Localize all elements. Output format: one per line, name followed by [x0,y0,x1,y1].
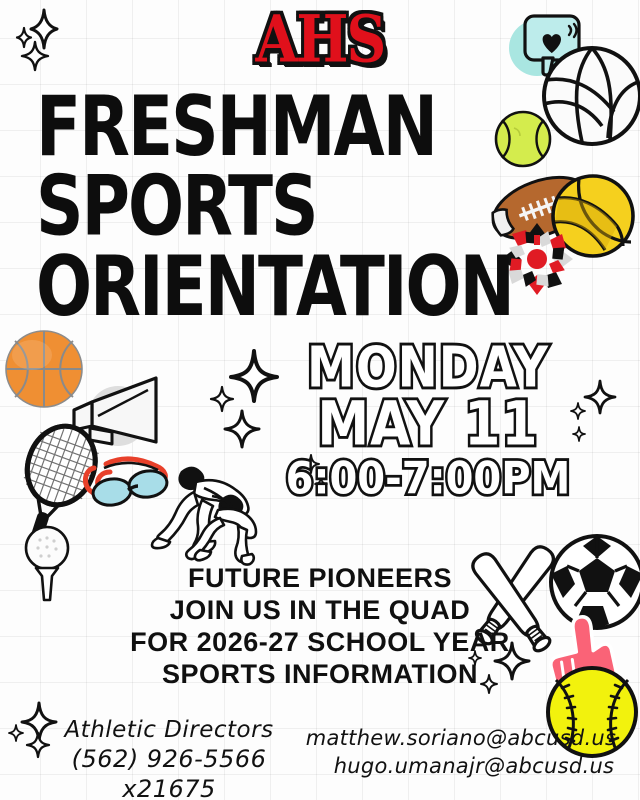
event-datetime: MONDAY MAY 11 6:00-7:00PM [278,340,578,504]
body-line-1: FUTURE PIONEERS [0,562,640,594]
email-address-2[interactable]: hugo.umanajr@abcusd.us [296,752,626,780]
event-details: FUTURE PIONEERS JOIN US IN THE QUAD FOR … [0,562,640,690]
headline-line-1: FRESHMAN [36,88,492,168]
athletic-directors-label: Athletic Directors [24,716,314,744]
body-line-2: JOIN US IN THE QUAD [0,594,640,626]
body-line-3: FOR 2026-27 SCHOOL YEAR [0,626,640,658]
footer-contact-left: Athletic Directors (562) 926-5566 x21675 [24,716,314,800]
headline-line-2: SPORTS [36,168,492,248]
sparkle-icon [6,722,26,744]
page-title: FRESHMAN SPORTS ORIENTATION [36,88,492,327]
body-line-4: SPORTS INFORMATION [0,658,640,690]
poster-canvas: #1 AHS FRESHMAN SPORTS ORIENTATION MONDA… [0,0,640,800]
headline-line-3: ORIENTATION [36,247,492,327]
tennis-ball-icon [492,108,554,170]
phone-number: (562) 926-5566 x21675 [24,744,314,800]
event-date: MAY 11 [278,391,578,458]
email-address-1[interactable]: matthew.soriano@abcusd.us [296,724,626,752]
ahs-logo: AHS [16,7,624,72]
sparkle-icon [222,408,262,450]
wrestlers-icon [146,452,268,564]
event-time: 6:00-7:00PM [278,451,578,507]
footer-contact-right: matthew.soriano@abcusd.us hugo.umanajr@a… [296,724,626,780]
